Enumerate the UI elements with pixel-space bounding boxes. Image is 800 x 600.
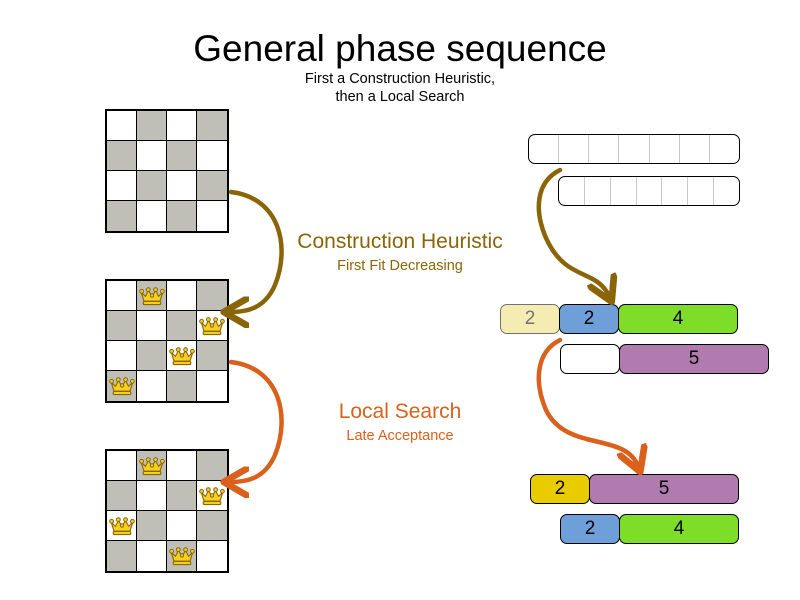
bin-segment xyxy=(662,177,688,205)
board-grid xyxy=(105,279,229,403)
bin-item-4[interactable]: 4 xyxy=(618,304,738,334)
bin-segment xyxy=(619,135,649,163)
queen-icon xyxy=(109,515,135,537)
page-subtitle: First a Construction Heuristic, then a L… xyxy=(0,70,800,106)
board-cell-r2-c1 xyxy=(137,341,167,371)
queen-icon xyxy=(169,545,195,567)
board-cell-r3-c2 xyxy=(167,371,197,401)
board-cell-r2-c3 xyxy=(197,171,227,201)
queen-icon xyxy=(109,375,135,397)
board-cell-queen-r1-c3 xyxy=(197,311,227,341)
board-cell-queen-r2-c0 xyxy=(107,511,137,541)
bin-segment xyxy=(650,135,680,163)
board-cell-r1-c2 xyxy=(167,141,197,171)
bin-stage-after-construction-row1: 224 xyxy=(500,304,737,334)
bin-item-5[interactable]: 5 xyxy=(619,344,769,374)
bin-row: 224 xyxy=(500,304,737,334)
board-cell-r0-c0 xyxy=(107,281,137,311)
page-subtitle-line2: then a Local Search xyxy=(0,88,800,106)
bin-stage-after-construction-row2: 5 xyxy=(560,344,768,374)
bin-stage-initial-row2 xyxy=(558,176,740,206)
bin-row: 5 xyxy=(560,344,768,374)
bin-item-2[interactable]: 2 xyxy=(500,304,560,334)
board-cell-r1-c2 xyxy=(167,311,197,341)
bin-segment xyxy=(714,177,739,205)
board-cell-r3-c0 xyxy=(107,541,137,571)
board-cell-queen-r0-c1 xyxy=(137,281,167,311)
board-cell-r2-c2 xyxy=(167,511,197,541)
board-cell-r2-c1 xyxy=(137,511,167,541)
bin-segment xyxy=(585,177,611,205)
bin-segment xyxy=(680,135,710,163)
board-cell-r1-c0 xyxy=(107,141,137,171)
queen-icon xyxy=(139,285,165,307)
bin-row xyxy=(558,176,740,206)
bin-row: 25 xyxy=(530,474,738,504)
board-cell-r1-c3 xyxy=(197,141,227,171)
board-cell-r3-c3 xyxy=(197,201,227,231)
bin-stage-after-local-search-row1: 25 xyxy=(530,474,738,504)
board-cell-r0-c3 xyxy=(197,451,227,481)
board-grid xyxy=(105,109,229,233)
board-cell-r3-c1 xyxy=(137,541,167,571)
board-cell-queen-r3-c2 xyxy=(167,541,197,571)
board-cell-r0-c2 xyxy=(167,111,197,141)
bin-segment xyxy=(637,177,663,205)
board-cell-r1-c0 xyxy=(107,481,137,511)
bin-segment xyxy=(710,135,739,163)
bin-row: 24 xyxy=(560,514,738,544)
board-cell-queen-r3-c0 xyxy=(107,371,137,401)
bin-segment xyxy=(559,135,589,163)
bin-item-4[interactable]: 4 xyxy=(619,514,739,544)
board-cell-r0-c3 xyxy=(197,281,227,311)
chessboard-after-construction xyxy=(105,279,229,403)
phase-label-local-search: Local Search Late Acceptance xyxy=(255,400,545,444)
bin-item-2[interactable]: 2 xyxy=(559,304,619,334)
board-cell-r2-c2 xyxy=(167,171,197,201)
bin-item-2[interactable]: 2 xyxy=(530,474,590,504)
board-cell-r3-c1 xyxy=(137,201,167,231)
board-cell-r1-c2 xyxy=(167,481,197,511)
bin-segment xyxy=(559,177,585,205)
chessboard-initial xyxy=(105,109,229,233)
phase-algorithm: Late Acceptance xyxy=(255,428,545,444)
phase-algorithm: First Fit Decreasing xyxy=(255,258,545,274)
board-cell-r2-c1 xyxy=(137,171,167,201)
bin-segment xyxy=(529,135,559,163)
board-cell-r0-c1 xyxy=(137,111,167,141)
board-cell-r3-c0 xyxy=(107,201,137,231)
board-cell-r0-c0 xyxy=(107,451,137,481)
queen-icon xyxy=(199,315,225,337)
board-cell-r2-c3 xyxy=(197,341,227,371)
board-cell-r0-c2 xyxy=(167,281,197,311)
board-cell-r0-c3 xyxy=(197,111,227,141)
board-cell-r0-c0 xyxy=(107,111,137,141)
board-cell-r1-c1 xyxy=(137,311,167,341)
board-cell-r1-c0 xyxy=(107,311,137,341)
phase-name: Construction Heuristic xyxy=(255,230,545,254)
board-cell-r2-c3 xyxy=(197,511,227,541)
bin-stage-initial xyxy=(528,134,740,164)
bin-segment xyxy=(688,177,714,205)
page-title: General phase sequence xyxy=(0,28,800,70)
queen-icon xyxy=(169,345,195,367)
board-grid xyxy=(105,449,229,573)
chessboard-after-local-search xyxy=(105,449,229,573)
phase-label-construction-heuristic: Construction Heuristic First Fit Decreas… xyxy=(255,230,545,274)
board-cell-queen-r1-c3 xyxy=(197,481,227,511)
board-cell-r3-c2 xyxy=(167,201,197,231)
board-cell-r2-c0 xyxy=(107,341,137,371)
board-cell-r0-c2 xyxy=(167,451,197,481)
board-cell-r3-c3 xyxy=(197,371,227,401)
bin-stage-after-local-search-row2: 24 xyxy=(560,514,738,544)
queen-icon xyxy=(139,455,165,477)
board-cell-r1-c1 xyxy=(137,141,167,171)
queen-icon xyxy=(199,485,225,507)
board-cell-r2-c0 xyxy=(107,171,137,201)
bin-segment xyxy=(589,135,619,163)
phase-name: Local Search xyxy=(255,400,545,424)
bin-item-empty[interactable] xyxy=(560,344,620,374)
board-cell-r3-c1 xyxy=(137,371,167,401)
board-cell-r1-c1 xyxy=(137,481,167,511)
bin-item-2[interactable]: 2 xyxy=(560,514,620,544)
bin-item-5[interactable]: 5 xyxy=(589,474,739,504)
board-cell-r3-c3 xyxy=(197,541,227,571)
bin-row xyxy=(528,134,740,164)
page-subtitle-line1: First a Construction Heuristic, xyxy=(0,70,800,88)
board-cell-queen-r0-c1 xyxy=(137,451,167,481)
bin-segment xyxy=(611,177,637,205)
board-cell-queen-r2-c2 xyxy=(167,341,197,371)
